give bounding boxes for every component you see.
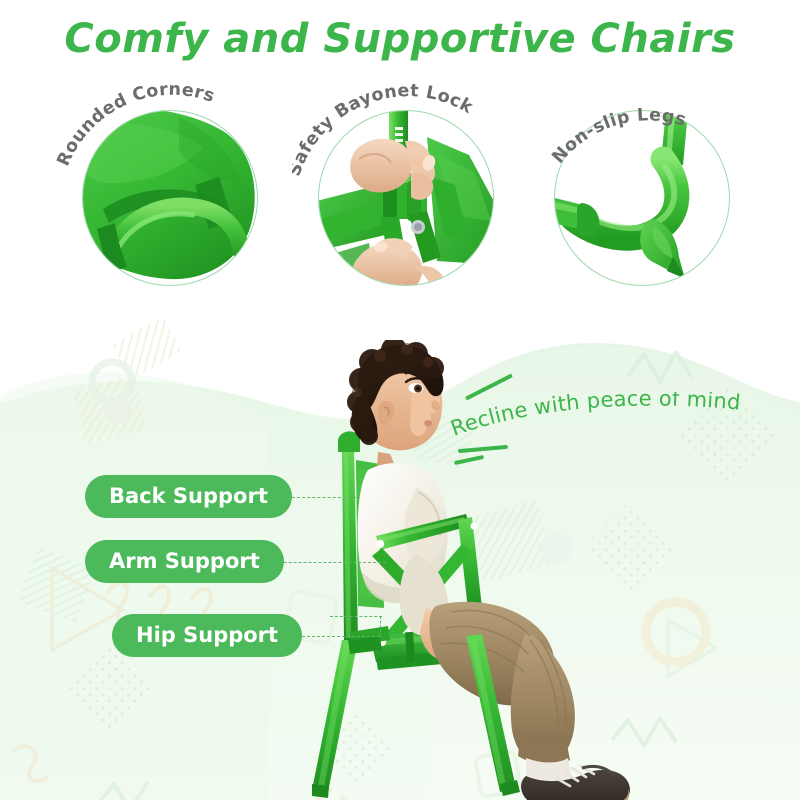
tagline-recline: Recline with peace of mind bbox=[450, 392, 780, 452]
page-title: Comfy and Supportive Chairs bbox=[0, 16, 800, 62]
feature-image-rounded-corners bbox=[83, 111, 258, 286]
feature-rounded-corners: Rounded Corners bbox=[82, 110, 258, 286]
connector-hip-support-top bbox=[330, 616, 382, 617]
feature-circle-safety-bayonet-lock bbox=[318, 110, 494, 286]
callout-back-support[interactable]: Back Support bbox=[85, 475, 292, 518]
connector-hip-support-drop bbox=[380, 616, 381, 637]
infographic-page: Comfy and Supportive Chairs bbox=[0, 0, 800, 800]
feature-circle-rounded-corners bbox=[82, 110, 258, 286]
feature-safety-bayonet-lock: Safety Bayonet Lock bbox=[318, 110, 494, 286]
svg-text:Recline with peace of mind: Recline with peace of mind bbox=[450, 392, 742, 441]
feature-image-safety-bayonet-lock bbox=[319, 111, 494, 286]
feature-image-non-slip-legs bbox=[555, 111, 730, 286]
callout-arm-support[interactable]: Arm Support bbox=[85, 540, 284, 583]
callout-hip-support[interactable]: Hip Support bbox=[112, 614, 302, 657]
tagline-text: Recline with peace of mind bbox=[450, 392, 742, 441]
feature-circle-non-slip-legs bbox=[554, 110, 730, 286]
feature-non-slip-legs: Non-slip Legs bbox=[554, 110, 730, 286]
